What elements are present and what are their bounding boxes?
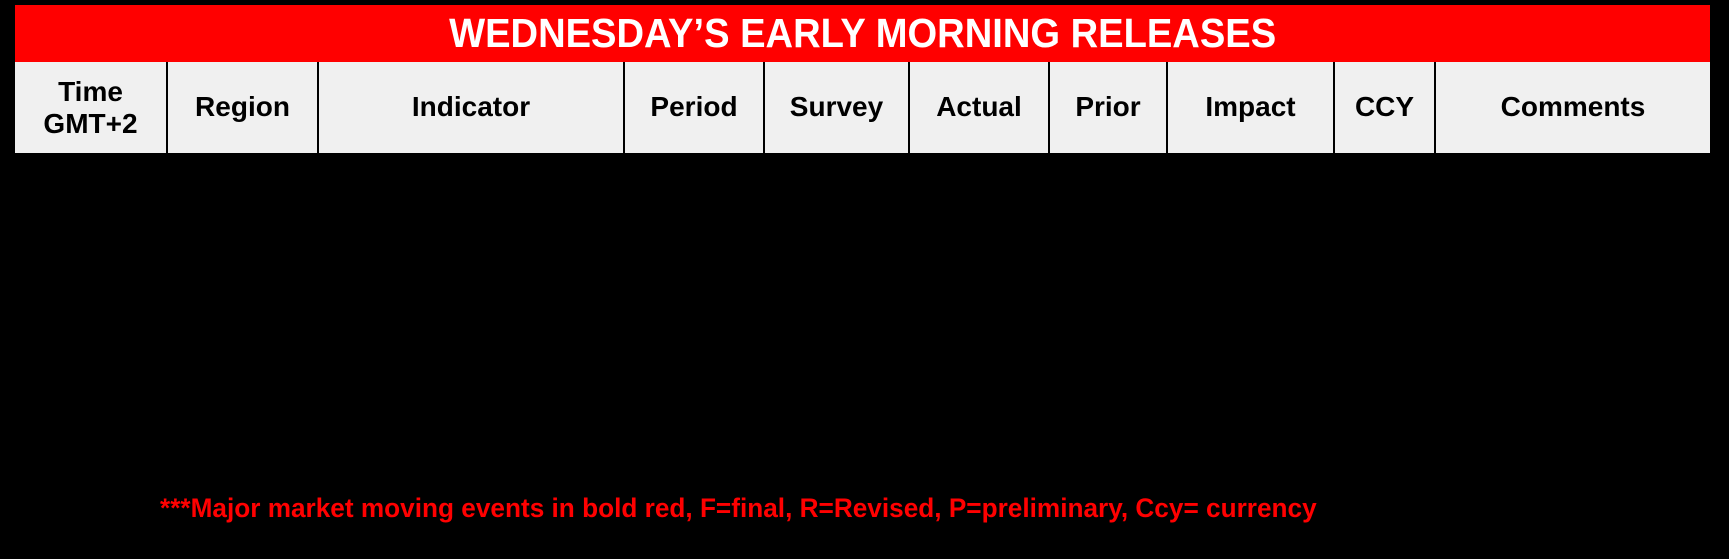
column-header-actual: Actual (910, 62, 1050, 153)
column-header-time-line2: GMT+2 (43, 108, 137, 139)
column-header-impact-label: Impact (1205, 91, 1295, 123)
column-header-impact: Impact (1168, 62, 1335, 153)
column-header-region: Region (168, 62, 319, 153)
column-header-time: Time GMT+2 (15, 62, 168, 153)
column-header-time-line1: Time (58, 76, 123, 107)
column-header-ccy-label: CCY (1355, 91, 1414, 123)
column-header-prior-label: Prior (1075, 91, 1140, 123)
column-header-region-label: Region (195, 91, 290, 123)
column-header-survey-label: Survey (790, 91, 883, 123)
calendar-table-header-row: Time GMT+2 Region Indicator Period Surve… (15, 62, 1710, 153)
column-header-prior: Prior (1050, 62, 1168, 153)
column-header-period-label: Period (650, 91, 737, 123)
calendar-table-body (15, 153, 1710, 490)
column-header-indicator: Indicator (319, 62, 625, 153)
column-header-period: Period (625, 62, 765, 153)
page-title: WEDNESDAY’S EARLY MORNING RELEASES (449, 13, 1276, 54)
legend-footnote-text: ***Major market moving events in bold re… (160, 495, 1317, 522)
legend-footnote: ***Major market moving events in bold re… (160, 488, 1537, 528)
column-header-ccy: CCY (1335, 62, 1436, 153)
calendar-title-banner: WEDNESDAY’S EARLY MORNING RELEASES (15, 5, 1710, 62)
column-header-comments: Comments (1436, 62, 1710, 153)
column-header-comments-label: Comments (1501, 91, 1646, 123)
column-header-actual-label: Actual (936, 91, 1022, 123)
economic-calendar-screen: WEDNESDAY’S EARLY MORNING RELEASES Time … (0, 0, 1729, 559)
column-header-survey: Survey (765, 62, 910, 153)
column-header-indicator-label: Indicator (412, 91, 530, 123)
